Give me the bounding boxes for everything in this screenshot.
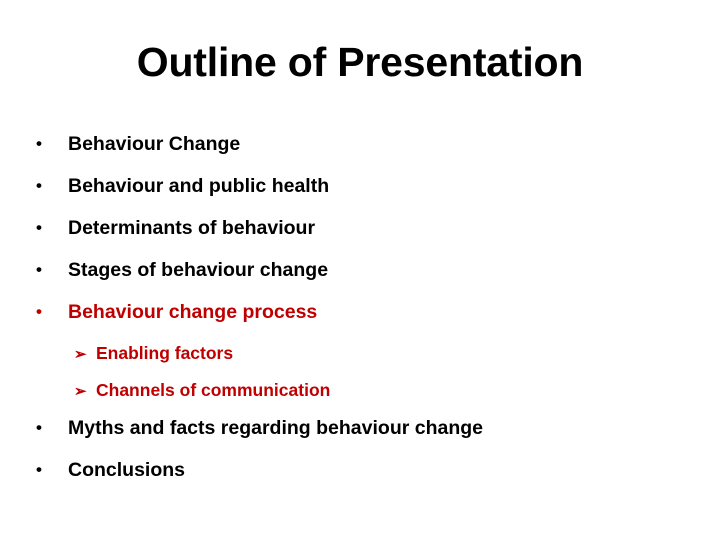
sub-list-item-label: Enabling factors <box>96 341 233 365</box>
page-title: Outline of Presentation <box>0 36 720 88</box>
list-item-label: Behaviour change process <box>68 299 317 325</box>
list-item-highlighted: • Behaviour change process <box>36 299 696 341</box>
outline-list: • Behaviour Change • Behaviour and publi… <box>36 131 696 499</box>
bullet-dot-icon: • <box>36 416 68 442</box>
list-item-label: Behaviour Change <box>68 131 240 157</box>
list-item-label: Conclusions <box>68 457 185 483</box>
sub-list-item-label: Channels of communication <box>96 378 330 402</box>
bullet-dot-icon: • <box>36 174 68 200</box>
bullet-dot-icon: • <box>36 216 68 242</box>
arrow-bullet-icon: ➢ <box>74 379 96 405</box>
bullet-dot-icon: • <box>36 300 68 326</box>
list-item: • Determinants of behaviour <box>36 215 696 257</box>
list-item-label: Stages of behaviour change <box>68 257 328 283</box>
list-item: • Stages of behaviour change <box>36 257 696 299</box>
bullet-dot-icon: • <box>36 132 68 158</box>
list-item-label: Behaviour and public health <box>68 173 329 199</box>
list-item: • Myths and facts regarding behaviour ch… <box>36 415 696 457</box>
bullet-dot-icon: • <box>36 458 68 484</box>
list-item-label: Determinants of behaviour <box>68 215 315 241</box>
list-item: • Behaviour and public health <box>36 173 696 215</box>
sub-list-item: ➢ Enabling factors <box>36 341 696 378</box>
arrow-bullet-icon: ➢ <box>74 342 96 368</box>
list-item: • Conclusions <box>36 457 696 499</box>
presentation-slide: Outline of Presentation • Behaviour Chan… <box>0 0 720 540</box>
list-item-label: Myths and facts regarding behaviour chan… <box>68 415 483 441</box>
bullet-dot-icon: • <box>36 258 68 284</box>
sub-list-item: ➢ Channels of communication <box>36 378 696 415</box>
list-item: • Behaviour Change <box>36 131 696 173</box>
